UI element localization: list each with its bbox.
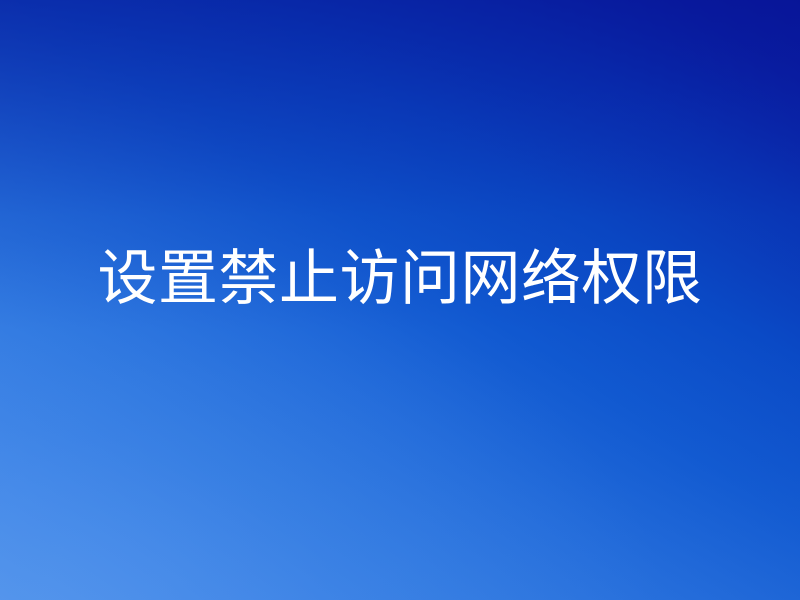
banner-canvas: 设置禁止访问网络权限	[0, 0, 800, 600]
banner-content: 设置禁止访问网络权限	[0, 0, 800, 600]
banner-headline: 设置禁止访问网络权限	[98, 247, 703, 310]
